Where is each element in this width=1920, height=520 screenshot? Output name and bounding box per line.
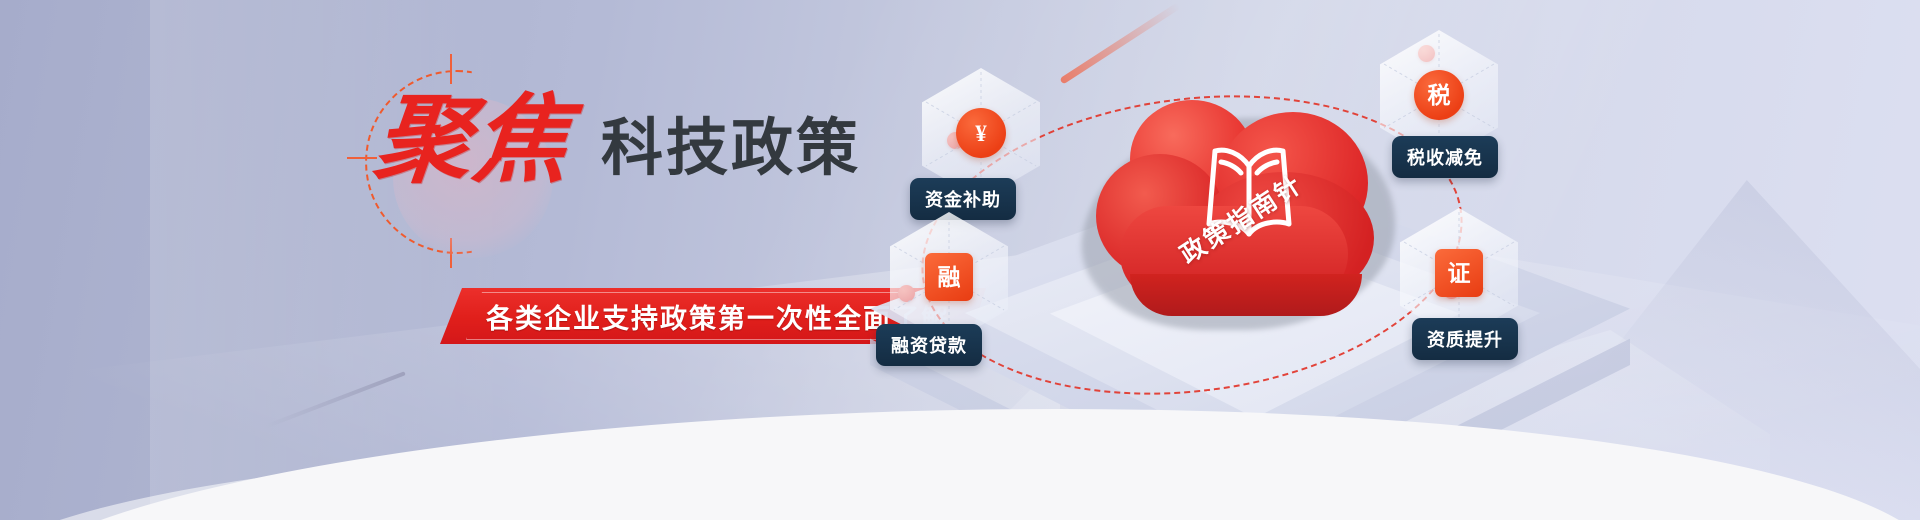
title-subject: 科技政策 [601,118,861,180]
glyph-char: 融 [938,266,961,289]
node-funding-subsidy[interactable]: ¥ 资金补助 [922,68,1040,200]
node-label[interactable]: 税收减免 [1392,136,1498,178]
glyph-char: 税 [1428,84,1451,107]
tax-stamp-icon: 税 [1413,68,1465,122]
diagonal-streak-decoration [264,371,405,428]
money-bag-icon: ¥ [955,106,1007,160]
glyph-char: ¥ [975,122,987,145]
crosshair-tick-top [450,54,452,84]
cloud-base [1130,274,1362,316]
finance-chart-icon: 融 [923,250,975,304]
glyph-char: 证 [1448,262,1471,285]
page-title: 聚焦 科技政策 [375,92,861,188]
policy-focus-banner: 聚焦 科技政策 各类企业支持政策第一次性全面了解 [0,0,1920,520]
node-financing-loan[interactable]: 融 融资贷款 [890,212,1008,344]
certificate-award-icon: 证 [1433,246,1485,300]
node-qualification-upgrade[interactable]: 证 资质提升 [1400,208,1518,340]
node-label[interactable]: 融资贷款 [876,324,982,366]
policy-cloud: 政策指南针 [1078,92,1408,352]
title-emphasis: 聚焦 [370,92,576,188]
node-label[interactable]: 资质提升 [1412,318,1518,360]
node-tax-reduction[interactable]: 税 税收减免 [1380,30,1498,162]
